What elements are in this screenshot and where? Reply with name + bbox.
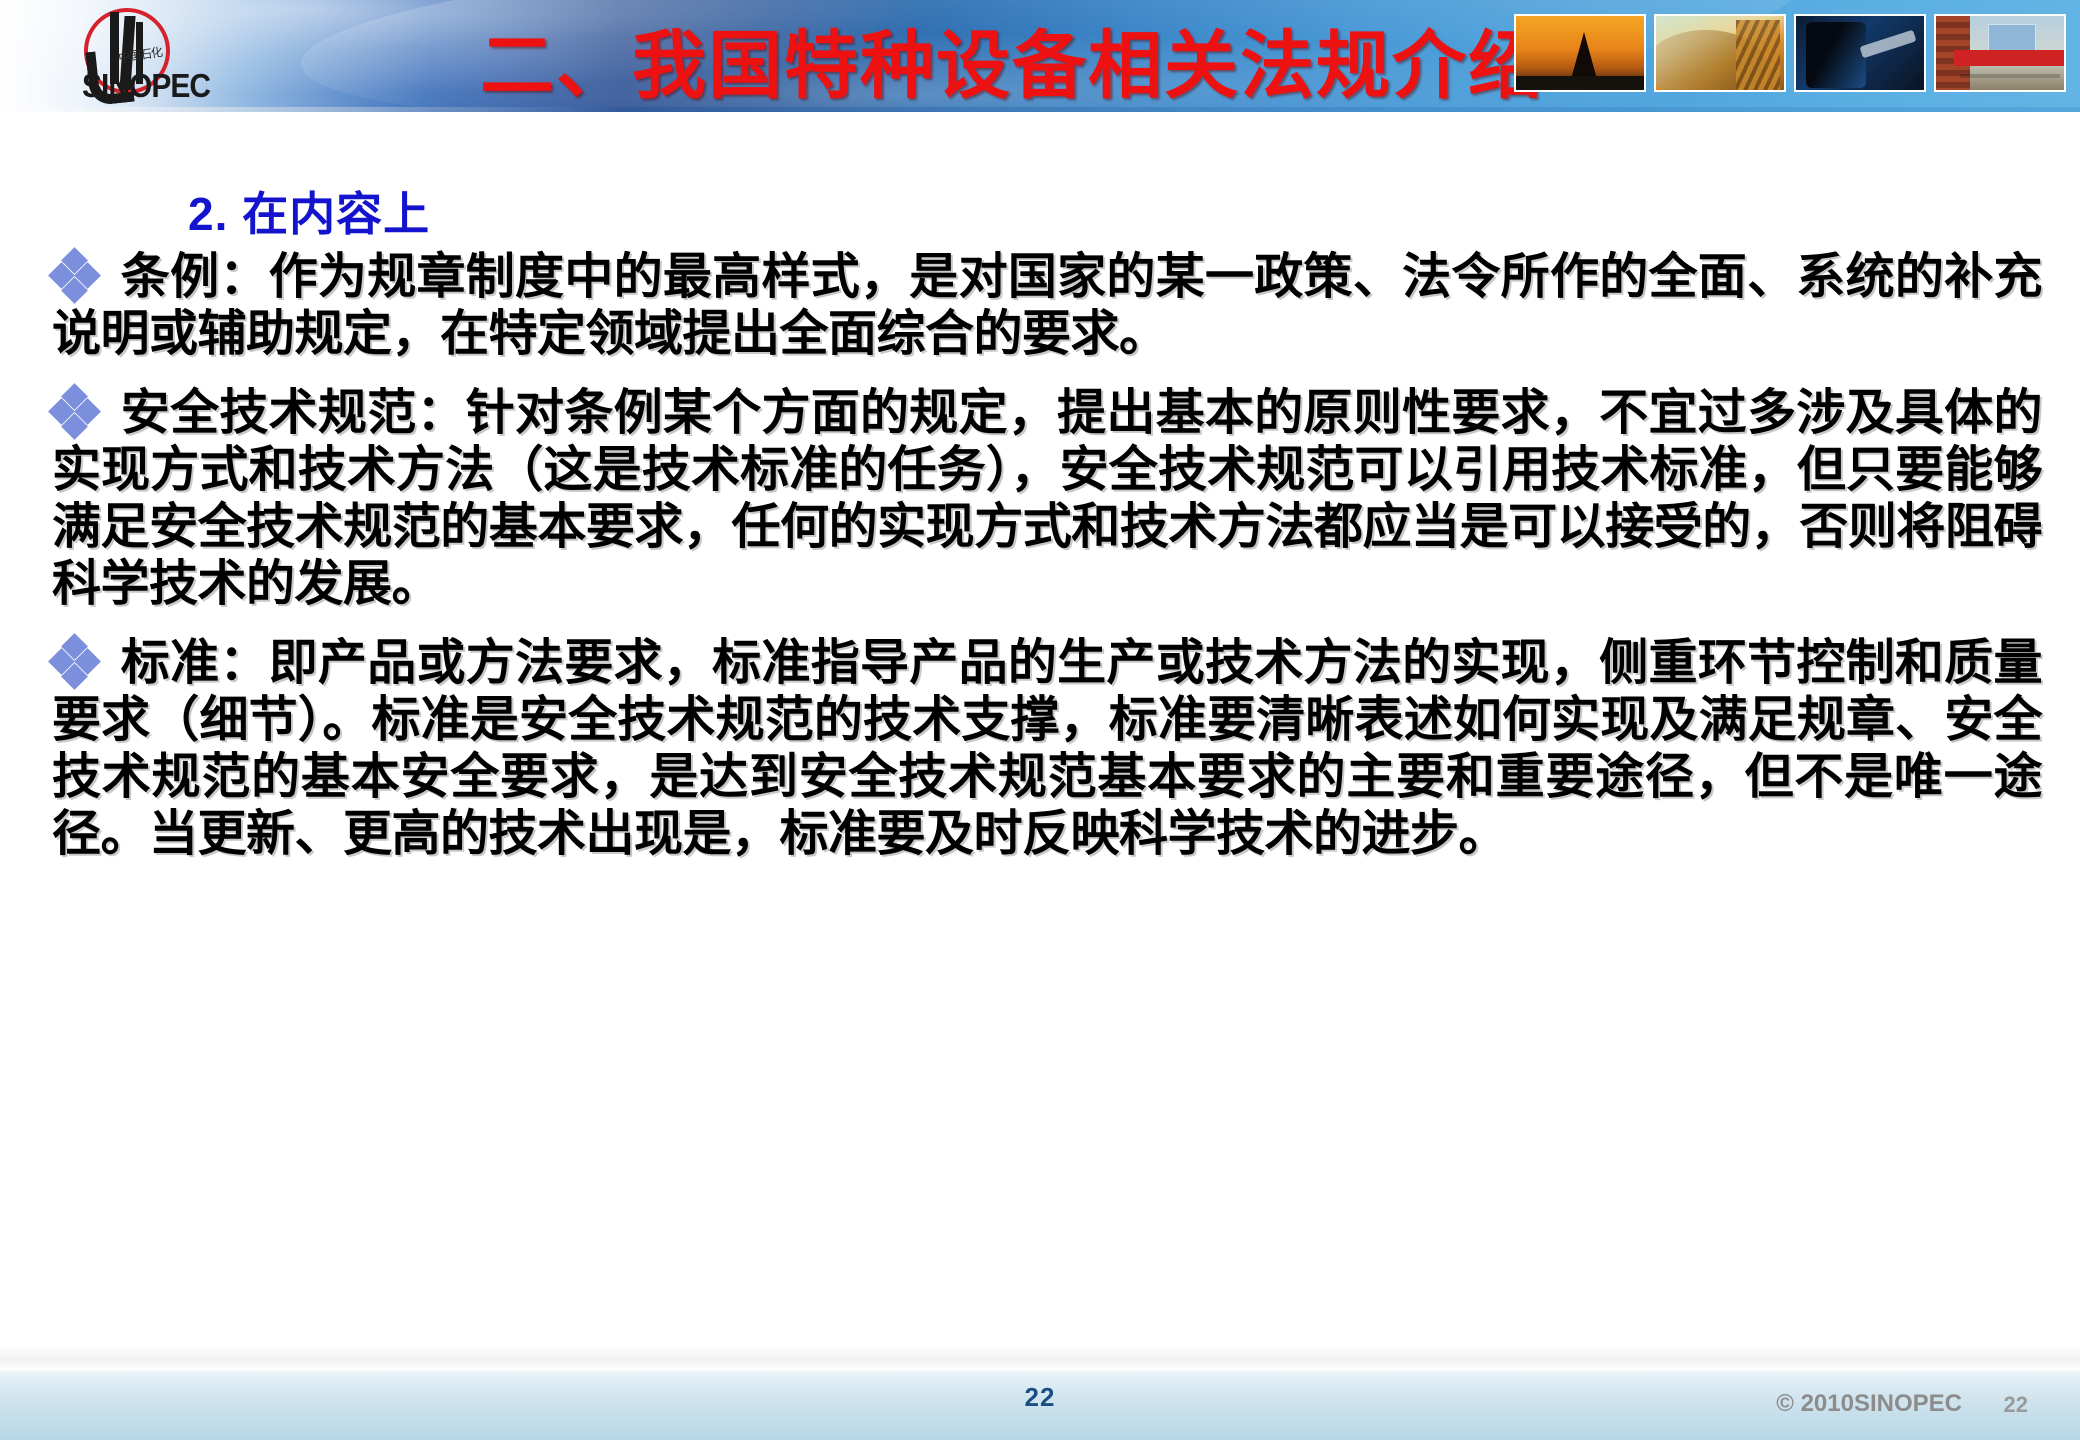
bullet-text: 条例：作为规章制度中的最高样式，是对国家的某一政策、法令所作的全面、系统的补充说… [52,248,2042,362]
diamond-bullet-icon [52,639,98,685]
diamond-bullet-icon [52,389,98,435]
page-number: 22 [0,1382,2080,1413]
bullet-text: 安全技术规范：针对条例某个方面的规定，提出基本的原则性要求，不宜过多涉及具体的实… [52,384,2042,612]
bullet-text-wrapper: 条例：作为规章制度中的最高样式，是对国家的某一政策、法令所作的全面、系统的补充说… [52,248,2042,362]
bullet-text-wrapper: 标准：即产品或方法要求，标准指导产品的生产或技术方法的实现，侧重环节控制和质量要… [52,634,2042,862]
slide-footer: 22 © 2010SINOPEC 22 [0,1368,2080,1440]
bullet-text-wrapper: 安全技术规范：针对条例某个方面的规定，提出基本的原则性要求，不宜过多涉及具体的实… [52,384,2042,612]
list-item: 安全技术规范：针对条例某个方面的规定，提出基本的原则性要求，不宜过多涉及具体的实… [52,384,2042,612]
footer-page-number: 22 [2004,1392,2028,1418]
header-thumbnail-strip [1514,14,2066,96]
slide-section-title: 二、我国特种设备相关法规介绍 [480,10,1580,108]
list-item: 条例：作为规章制度中的最高样式，是对国家的某一政策、法令所作的全面、系统的补充说… [52,248,2042,362]
copyright-notice: © 2010SINOPEC [1776,1390,1962,1418]
oil-derrick-sunset-photo [1514,14,1646,92]
list-item: 标准：即产品或方法要求，标准指导产品的生产或技术方法的实现，侧重环节控制和质量要… [52,634,2042,862]
logo-wordmark: SINOPEC [82,71,212,104]
bullet-text: 标准：即产品或方法要求，标准指导产品的生产或技术方法的实现，侧重环节控制和质量要… [52,634,2042,862]
content-subtitle: 2. 在内容上 [188,178,430,244]
refinery-tank-photo [1654,14,1786,92]
diamond-bullet-icon [52,253,98,299]
gas-station-photo [1934,14,2066,92]
slide-header: 中国石化 SINOPEC 二、我国特种设备相关法规介绍 [0,0,2080,112]
sinopec-logo: 中国石化 SINOPEC [60,2,200,110]
station-sign-pane [1988,24,2036,60]
bullet-list: 条例：作为规章制度中的最高样式，是对国家的某一政策、法令所作的全面、系统的补充说… [52,248,2042,872]
industrial-pipework-photo [1794,14,1926,92]
